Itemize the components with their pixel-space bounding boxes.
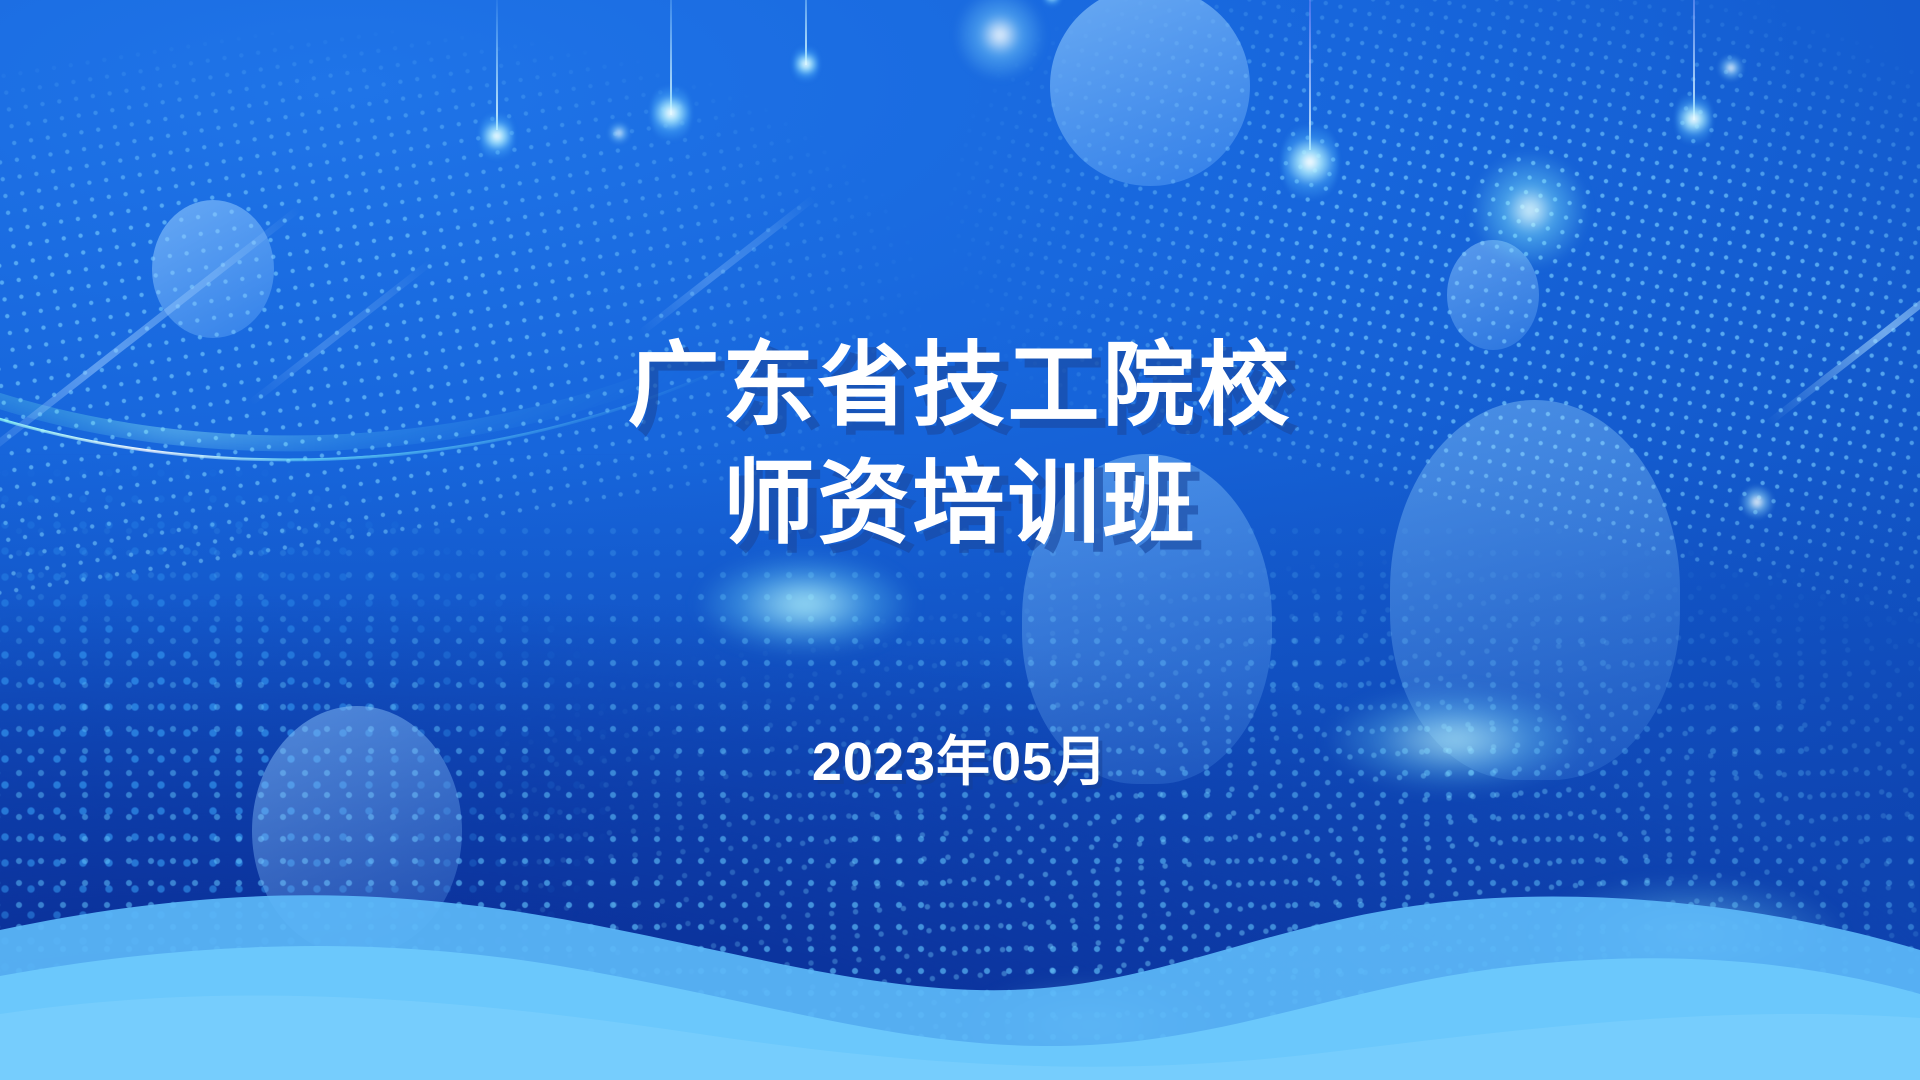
- slide-title: 广东省技工院校 师资培训班: [627, 328, 1292, 564]
- slide-date: 2023年05月: [812, 717, 1108, 796]
- title-slide: 广东省技工院校 师资培训班 2023年05月: [0, 0, 1920, 1080]
- slide-content: 广东省技工院校 师资培训班 2023年05月: [0, 0, 1920, 1080]
